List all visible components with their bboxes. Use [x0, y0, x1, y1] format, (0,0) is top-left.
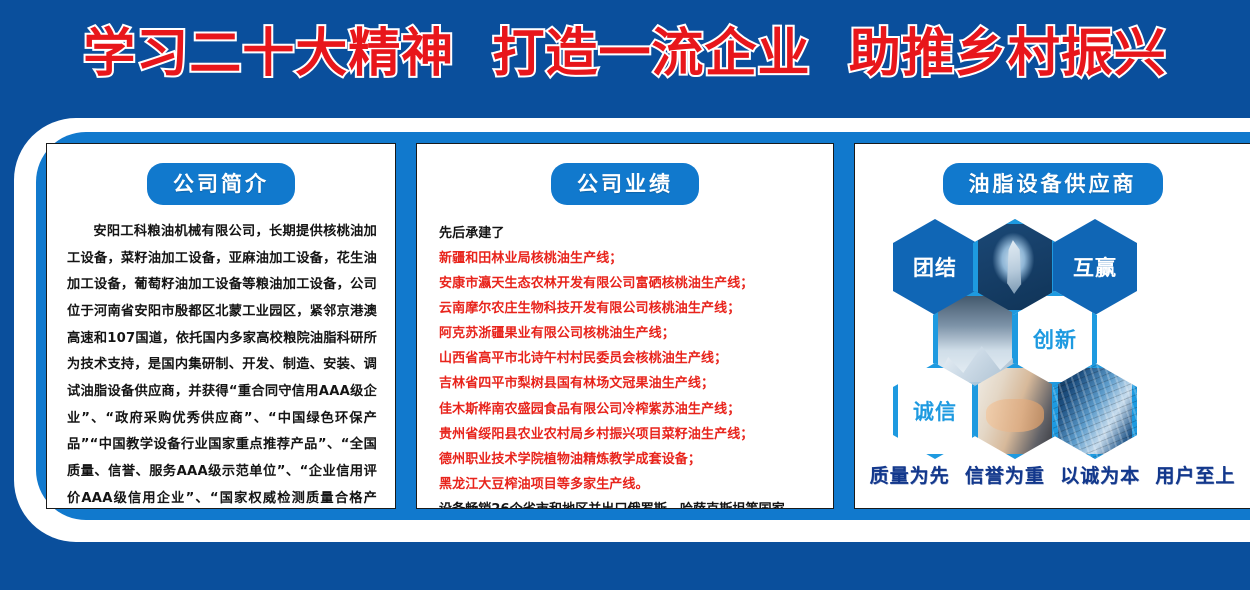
- header-title: 学习二十大精神 打造一流企业 助推乡村振兴: [83, 28, 1166, 80]
- values-tagline: 质量为先 信誉为重 以诚为本 用户至上: [855, 461, 1250, 488]
- performance-project-item: 吉林省四平市梨树县国有林场文冠果油生产线；: [439, 371, 833, 396]
- badge-company-intro: 公司简介: [147, 163, 295, 205]
- performance-project-list: 新疆和田林业局核桃油生产线；安康市瀛天生态农林开发有限公司富硒核桃油生产线；云南…: [439, 246, 833, 497]
- performance-project-item: 新疆和田林业局核桃油生产线；: [439, 246, 833, 271]
- performance-text: 先后承建了 新疆和田林业局核桃油生产线；安康市瀛天生态农林开发有限公司富硒核桃油…: [439, 221, 833, 509]
- poster-canvas: 学习二十大精神 打造一流企业 助推乡村振兴 公司简介 安阳工科粮油机械有限公司，…: [0, 0, 1250, 590]
- panel-company-performance: 公司业绩 先后承建了 新疆和田林业局核桃油生产线；安康市瀛天生态农林开发有限公司…: [416, 143, 834, 509]
- panel-company-intro: 公司简介 安阳工科粮油机械有限公司，长期提供核桃油加工设备，菜籽油加工设备，亚麻…: [46, 143, 396, 509]
- panel-supplier-values: 油脂设备供应商 团结互赢创新诚信 质量为先 信誉为重 以诚为本 用户至上: [854, 143, 1250, 509]
- performance-project-item: 山西省高平市北诗午村村民委员会核桃油生产线；: [439, 346, 833, 371]
- performance-project-item: 黑龙江大豆榨油项目等多家生产线。: [439, 472, 833, 497]
- company-intro-text: 安阳工科粮油机械有限公司，长期提供核桃油加工设备，菜籽油加工设备，亚麻油加工设备…: [67, 219, 377, 509]
- performance-lead: 先后承建了: [439, 221, 833, 246]
- performance-project-item: 阿克苏浙疆果业有限公司核桃油生产线；: [439, 321, 833, 346]
- performance-footer-line: 设备畅销26个省市和地区并出口俄罗斯、哈萨克斯坦等国家。: [439, 497, 833, 509]
- hexagon-grid: 团结互赢创新诚信: [855, 211, 1250, 451]
- performance-project-item: 云南摩尔农庄生物科技开发有限公司核桃油生产线；: [439, 296, 833, 321]
- badge-company-performance: 公司业绩: [551, 163, 699, 205]
- performance-project-item: 安康市瀛天生态农林开发有限公司富硒核桃油生产线；: [439, 271, 833, 296]
- header-banner: 学习二十大精神 打造一流企业 助推乡村振兴: [0, 0, 1250, 108]
- badge-supplier: 油脂设备供应商: [943, 163, 1163, 205]
- performance-project-item: 贵州省绥阳县农业农村局乡村振兴项目菜籽油生产线；: [439, 422, 833, 447]
- performance-project-item: 佳木斯桦南农盛园食品有限公司冷榨紫苏油生产线；: [439, 397, 833, 422]
- performance-project-item: 德州职业技术学院植物油精炼教学成套设备；: [439, 447, 833, 472]
- performance-footer: 设备畅销26个省市和地区并出口俄罗斯、哈萨克斯坦等国家。企业始终坚持“专注质量，…: [439, 497, 833, 509]
